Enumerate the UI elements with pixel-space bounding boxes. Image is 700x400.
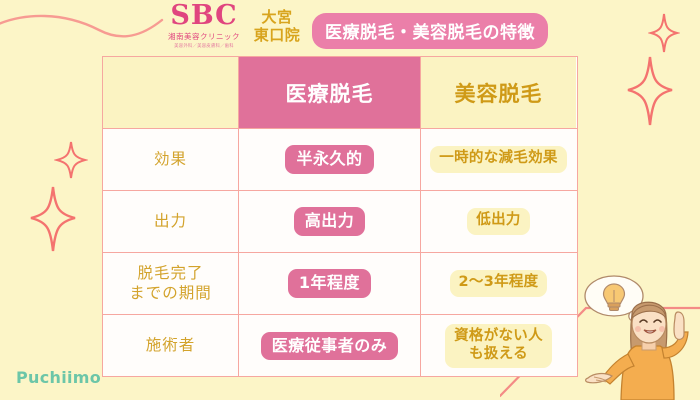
character-illustration <box>572 272 700 400</box>
sparkle-icon <box>54 140 88 180</box>
table-row: 施術者 医療従事者のみ 資格がない人 も扱える <box>103 315 577 377</box>
row-label-cell: 脱毛完了 までの期間 <box>103 253 239 314</box>
sparkle-icon <box>28 185 78 253</box>
table-header-medical: 医療脱毛 <box>239 57 421 128</box>
table-row: 出力 高出力 低出力 <box>103 191 577 253</box>
beauty-value-pill: 低出力 <box>467 208 529 235</box>
beauty-value-pill: 2〜3年程度 <box>450 270 548 297</box>
table-header-beauty: 美容脱毛 <box>421 57 576 128</box>
row-label: 効果 <box>154 150 187 170</box>
beauty-value-pill: 資格がない人 も扱える <box>445 324 552 368</box>
row-label-line-1: 脱毛完了 <box>129 264 212 284</box>
row-medical-cell: 1年程度 <box>239 253 421 314</box>
table-header-blank <box>103 57 239 128</box>
table-header-row: 医療脱毛 美容脱毛 <box>103 57 577 129</box>
sbc-clinic-logo: SBC 湘南美容クリニック 美容外科／美容皮膚科／歯科 <box>148 2 260 49</box>
row-label: 施術者 <box>146 336 196 356</box>
row-label-cell: 出力 <box>103 191 239 252</box>
medical-value-pill: 1年程度 <box>288 269 371 298</box>
infographic-canvas: SBC 湘南美容クリニック 美容外科／美容皮膚科／歯科 大宮 東口院 医療脱毛・… <box>0 0 700 400</box>
row-label: 脱毛完了 までの期間 <box>129 264 212 304</box>
header: SBC 湘南美容クリニック 美容外科／美容皮膚科／歯科 大宮 東口院 医療脱毛・… <box>0 0 700 56</box>
clinic-branch-name: 大宮 東口院 <box>246 8 308 45</box>
table-row: 脱毛完了 までの期間 1年程度 2〜3年程度 <box>103 253 577 315</box>
medical-value-pill: 医療従事者のみ <box>261 332 399 361</box>
woman-figure <box>586 302 688 400</box>
row-label: 出力 <box>154 212 187 232</box>
row-medical-cell: 高出力 <box>239 191 421 252</box>
logo-departments: 美容外科／美容皮膚科／歯科 <box>148 43 260 49</box>
logo-mark: SBC <box>148 2 260 30</box>
page-title: 医療脱毛・美容脱毛の特徴 <box>312 13 548 49</box>
comparison-table: 医療脱毛 美容脱毛 効果 半永久的 一時的な減毛効果 出力 高出力 低出力 <box>102 56 578 377</box>
sparkle-icon <box>625 55 675 127</box>
medical-value-pill: 半永久的 <box>285 145 373 174</box>
footer-brand-logo: Puchiimo <box>16 368 101 387</box>
row-beauty-cell: 低出力 <box>421 191 576 252</box>
logo-clinic-name: 湘南美容クリニック <box>148 31 260 42</box>
branch-line-1: 大宮 <box>246 8 308 26</box>
row-medical-cell: 医療従事者のみ <box>239 315 421 377</box>
medical-value-pill: 高出力 <box>294 207 366 236</box>
row-beauty-cell: 一時的な減毛効果 <box>421 129 576 190</box>
row-label-cell: 効果 <box>103 129 239 190</box>
row-label-line-2: までの期間 <box>129 284 212 304</box>
row-beauty-cell: 2〜3年程度 <box>421 253 576 314</box>
table-row: 効果 半永久的 一時的な減毛効果 <box>103 129 577 191</box>
row-label-cell: 施術者 <box>103 315 239 377</box>
branch-line-2: 東口院 <box>246 26 308 44</box>
beauty-value-pill: 一時的な減毛効果 <box>430 146 566 173</box>
row-medical-cell: 半永久的 <box>239 129 421 190</box>
row-beauty-cell: 資格がない人 も扱える <box>421 315 576 377</box>
